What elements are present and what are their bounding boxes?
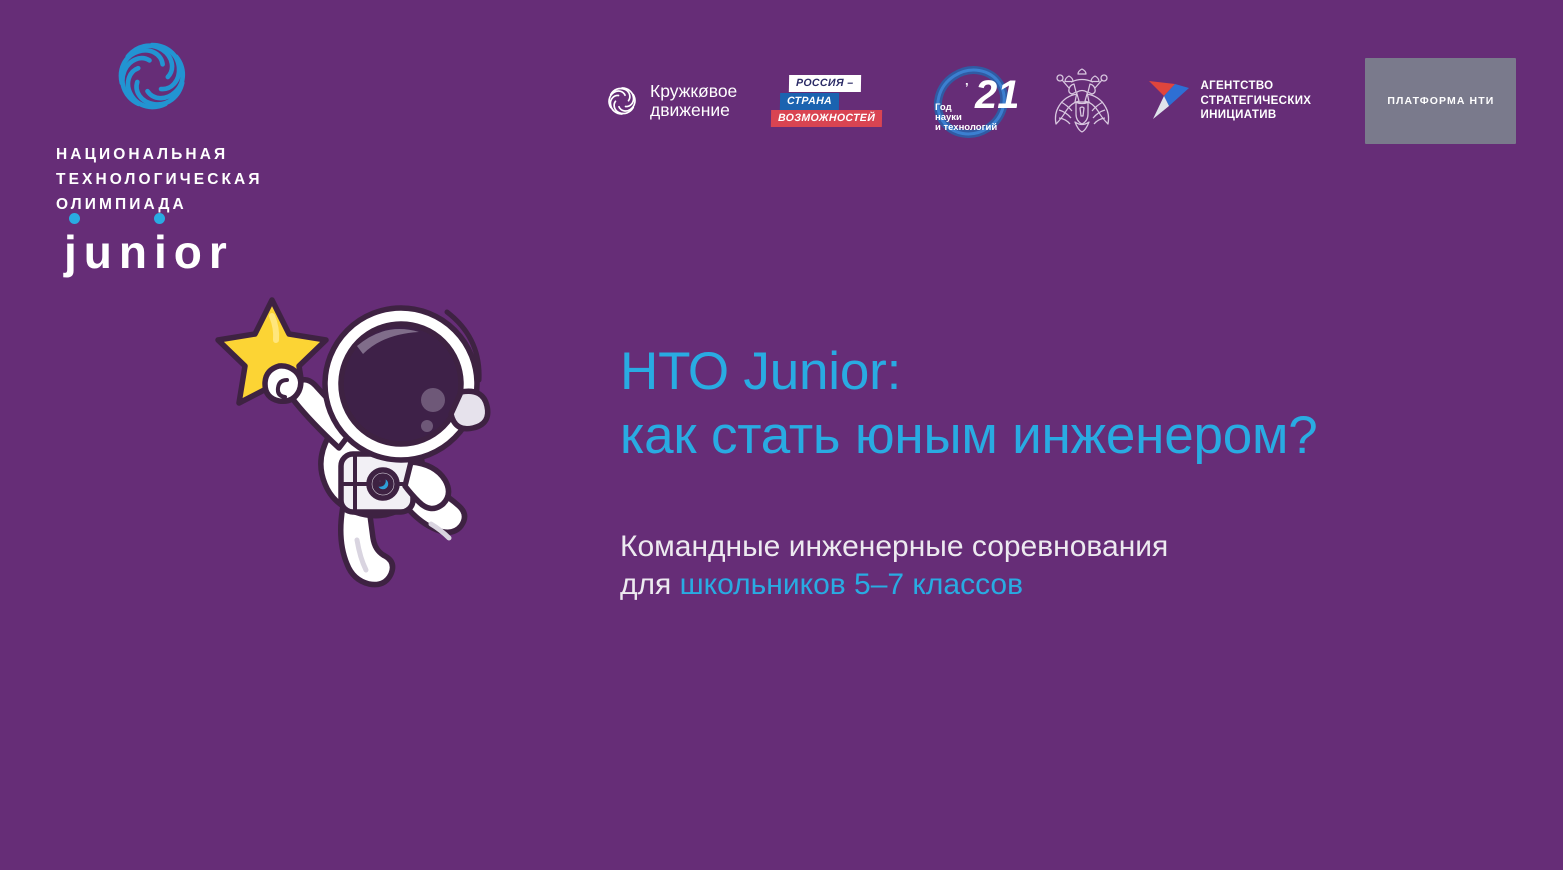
kd-wordmark: Кружкøвое движение (650, 82, 737, 120)
nto-junior-brand-lockup: НАЦИОНАЛЬНАЯ ТЕХНОЛОГИЧЕСКАЯ ОЛИМПИАДА j… (56, 26, 296, 275)
rsv-bar-2: СТРАНА (780, 93, 839, 110)
brand-line-3: ОЛИМПИАДА (56, 192, 296, 217)
partner-logo-platforma-nti: ПЛАТФОРМА НТИ (1365, 58, 1516, 144)
asi-line-1: АГЕНТСТВО (1201, 79, 1312, 94)
partner-logo-asi: АГЕНТСТВО СТРАТЕГИЧЕСКИХ ИНИЦИАТИВ (1145, 58, 1312, 144)
presentation-slide: НАЦИОНАЛЬНАЯ ТЕХНОЛОГИЧЕСКАЯ ОЛИМПИАДА j… (0, 0, 1563, 870)
kd-line-1: Кружкøвое (650, 82, 737, 101)
brand-junior-text: junior (64, 226, 234, 278)
partner-logo-god-nauki: 21 ’ Год науки и технологий (883, 58, 1017, 144)
subtitle-line-2-plain: для (620, 568, 680, 601)
headline-line-1: НТО Junior: (620, 340, 1520, 404)
asi-line-3: ИНИЦИАТИВ (1201, 108, 1312, 123)
rsv-bar-1: РОССИЯ – (789, 75, 861, 92)
nti-label: ПЛАТФОРМА НТИ (1387, 95, 1494, 107)
asi-line-2: СТРАТЕГИЧЕСКИХ (1201, 94, 1312, 109)
junior-i-dot-icon (154, 213, 165, 224)
kd-line-2: движение (650, 101, 737, 120)
subtitle-line-2: для школьников 5–7 классов (620, 566, 1520, 604)
headline-line-2: как стать юным инженером? (620, 404, 1520, 468)
subtitle-block: Командные инженерные соревнования для шк… (620, 528, 1520, 604)
rsv-bar-3: ВОЗМОЖНОСТЕЙ (771, 110, 882, 127)
svg-text:21: 21 (974, 73, 1017, 117)
astronaut-illustration (205, 288, 505, 608)
brand-wordmark: НАЦИОНАЛЬНАЯ ТЕХНОЛОГИЧЕСКАЯ ОЛИМПИАДА (56, 142, 296, 217)
partner-logo-gerb-rf (1017, 58, 1115, 144)
russian-coat-of-arms-icon (1049, 64, 1115, 138)
partner-logo-strip: Кружкøвое движение РОССИЯ – СТРАНА ВОЗМО… (604, 58, 1516, 144)
asi-wordmark: АГЕНТСТВО СТРАТЕГИЧЕСКИХ ИНИЦИАТИВ (1201, 79, 1312, 123)
partner-logo-kruzhkovoe-dvizhenie: Кружкøвое движение (604, 58, 737, 144)
svg-text:и технологий: и технологий (935, 122, 997, 133)
brand-junior-wordmark: junior (64, 229, 296, 275)
brand-line-2: ТЕХНОЛОГИЧЕСКАЯ (56, 167, 296, 192)
slide-copy-block: НТО Junior: как стать юным инженером? Ко… (620, 340, 1520, 604)
subtitle-line-1: Командные инженерные соревнования (620, 528, 1520, 566)
subtitle-line-2-accent: школьников 5–7 классов (680, 568, 1023, 601)
junior-j-dot-icon (69, 213, 80, 224)
ring-of-loops-icon (604, 80, 640, 122)
brand-line-1: НАЦИОНАЛЬНАЯ (56, 142, 296, 167)
svg-text:’: ’ (965, 80, 969, 95)
year-of-science-icon: 21 ’ Год науки и технологий (925, 62, 1017, 140)
nto-petal-ring-logo (102, 26, 202, 126)
partner-logo-rossiya-strana-vozmozhnostey: РОССИЯ – СТРАНА ВОЗМОЖНОСТЕЙ (771, 58, 882, 144)
asi-arrow-icon (1145, 75, 1193, 127)
